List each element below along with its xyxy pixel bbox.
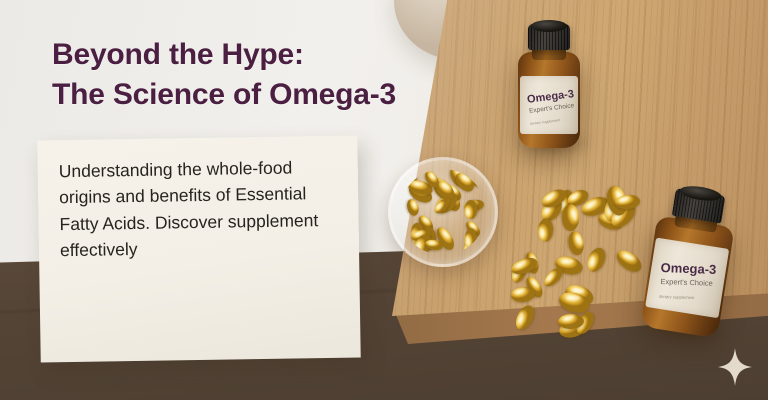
- bottle-cap[interactable]: [528, 24, 570, 50]
- description-text: Understanding the whole-food origins and…: [59, 154, 343, 263]
- softgel-capsule: [557, 313, 583, 329]
- softgel-capsule: [464, 199, 478, 219]
- bowl-capsules: [400, 169, 486, 255]
- softgel-capsule: [613, 246, 645, 276]
- softgel-capsule: [562, 204, 580, 231]
- bottle-label-fine-print: dietary supplement: [530, 118, 561, 126]
- promo-banner: Omega-3 Expert's Choice dietary suppleme…: [0, 0, 768, 400]
- softgel-capsule: [541, 265, 566, 290]
- bottle-label-title: Omega-3: [660, 260, 716, 277]
- description-card: Understanding the whole-food origins and…: [37, 136, 360, 363]
- omega3-bottle-top[interactable]: Omega-3 Expert's Choice dietary suppleme…: [512, 22, 586, 150]
- softgel-capsule: [614, 194, 640, 210]
- sparkle-icon: [718, 348, 752, 386]
- softgel-capsule: [513, 302, 538, 332]
- bottle-label-fine-print: dietary supplement: [659, 294, 695, 300]
- softgel-capsule: [567, 230, 586, 256]
- softgel-capsule: [511, 286, 536, 303]
- page-title: Beyond the Hype: The Science of Omega-3: [52, 35, 396, 114]
- bottle-label: Omega-3 Expert's Choice dietary suppleme…: [645, 238, 729, 319]
- bottle-cap-top: [531, 20, 567, 32]
- bottle-label: Omega-3 Expert's Choice dietary suppleme…: [520, 76, 578, 134]
- softgel-capsule: [538, 218, 554, 241]
- bottle-label-subtitle: Expert's Choice: [660, 277, 713, 288]
- capsule-cluster: [482, 254, 598, 338]
- glass-bowl: [388, 157, 498, 267]
